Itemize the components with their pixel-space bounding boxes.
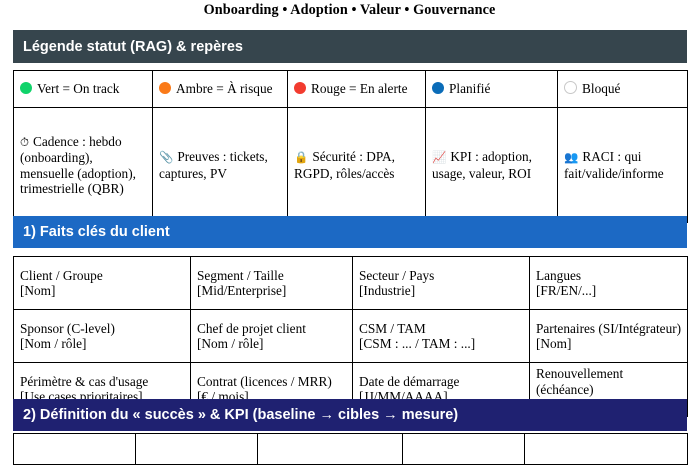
s1-cell-segment-line2: [Mid/Enterprise] bbox=[197, 283, 347, 299]
table-row: Sponsor (C-level) [Nom / rôle] Chef de p… bbox=[14, 310, 688, 363]
s1-cell-client-line2: [Nom] bbox=[20, 283, 185, 299]
hollow-circle-icon bbox=[564, 81, 577, 94]
s1-cell-csm-tam-line1: CSM / TAM bbox=[359, 321, 524, 337]
s1-cell-sector-line2: [Industrie] bbox=[359, 283, 524, 299]
green-circle-icon bbox=[20, 82, 32, 94]
s2-cell-3 bbox=[258, 434, 403, 465]
legend-notes-row: ⏱Cadence : hebdo (onboarding), mensuelle… bbox=[14, 108, 688, 223]
s1-cell-sector: Secteur / Pays [Industrie] bbox=[353, 257, 530, 310]
s1-cell-project-manager-line2: [Nom / rôle] bbox=[197, 336, 347, 352]
legend-note-cadence: ⏱Cadence : hebdo (onboarding), mensuelle… bbox=[14, 108, 153, 223]
s1-cell-renewal-line1: Renouvellement (échéance) bbox=[536, 366, 682, 397]
section1-table: Client / Groupe [Nom] Segment / Taille [… bbox=[13, 256, 688, 417]
s1-cell-client-line1: Client / Groupe bbox=[20, 268, 185, 284]
s1-cell-segment-line1: Segment / Taille bbox=[197, 268, 347, 284]
legend-status-amber-label: Ambre = À risque bbox=[176, 81, 273, 96]
section2-banner-label: 2) Définition du « succès » & KPI (basel… bbox=[23, 407, 458, 423]
legend-status-green: Vert = On track bbox=[14, 71, 153, 108]
legend-note-security-label: Sécurité : DPA, RGPD, rôles/accès bbox=[294, 149, 395, 181]
s2-cell-1 bbox=[14, 434, 136, 465]
s1-cell-sponsor-line1: Sponsor (C-level) bbox=[20, 321, 185, 337]
s1-cell-csm-tam-line2: [CSM : ... / TAM : ...] bbox=[359, 336, 524, 352]
legend-banner-label: Légende statut (RAG) & repères bbox=[23, 39, 243, 55]
s1-cell-csm-tam: CSM / TAM [CSM : ... / TAM : ...] bbox=[353, 310, 530, 363]
s1-cell-sponsor-line2: [Nom / rôle] bbox=[20, 336, 185, 352]
section2-banner: 2) Définition du « succès » & KPI (basel… bbox=[13, 399, 687, 431]
legend-status-blocked: Bloqué bbox=[558, 71, 688, 108]
legend-note-evidence: 📎Preuves : tickets, captures, PV bbox=[153, 108, 288, 223]
s2-cell-5 bbox=[525, 434, 688, 465]
s1-cell-project-manager: Chef de projet client [Nom / rôle] bbox=[191, 310, 353, 363]
legend-status-amber: Ambre = À risque bbox=[153, 71, 288, 108]
legend-status-green-label: Vert = On track bbox=[37, 81, 119, 96]
s1-cell-partners-line2: [Nom] bbox=[536, 336, 682, 352]
slide-page: Onboarding • Adoption • Valeur • Gouvern… bbox=[0, 0, 699, 445]
s1-cell-start-date-line1: Date de démarrage bbox=[359, 374, 524, 390]
s1-cell-partners-line1: Partenaires (SI/Intégrateur) bbox=[536, 321, 682, 337]
section2-table bbox=[13, 433, 688, 465]
blue-circle-icon bbox=[432, 82, 444, 94]
legend-note-cadence-label: Cadence : hebdo (onboarding), mensuelle … bbox=[20, 134, 136, 197]
legend-status-blocked-label: Bloqué bbox=[582, 81, 620, 96]
s1-cell-client: Client / Groupe [Nom] bbox=[14, 257, 191, 310]
s1-cell-languages-line1: Langues bbox=[536, 268, 682, 284]
orange-circle-icon bbox=[159, 82, 171, 94]
legend-note-security: 🔒Sécurité : DPA, RGPD, rôles/accès bbox=[288, 108, 426, 223]
chart-increasing-icon: 📈 bbox=[432, 150, 446, 164]
table-row bbox=[14, 434, 688, 465]
section1-banner: 1) Faits clés du client bbox=[13, 216, 687, 248]
legend-note-raci-label: RACI : qui fait/valide/informe bbox=[564, 149, 664, 181]
lock-icon: 🔒 bbox=[294, 150, 308, 164]
paperclip-icon: 📎 bbox=[159, 150, 173, 164]
s1-cell-project-manager-line1: Chef de projet client bbox=[197, 321, 347, 337]
busts-in-silhouette-icon: 👥 bbox=[564, 150, 578, 164]
s2-cell-2 bbox=[136, 434, 258, 465]
section1-banner-label: 1) Faits clés du client bbox=[23, 224, 170, 240]
s1-cell-languages: Langues [FR/EN/...] bbox=[530, 257, 688, 310]
s1-cell-languages-line2: [FR/EN/...] bbox=[536, 283, 682, 299]
s1-cell-sector-line1: Secteur / Pays bbox=[359, 268, 524, 284]
red-circle-icon bbox=[294, 82, 306, 94]
legend-section-banner: Légende statut (RAG) & repères bbox=[13, 30, 687, 63]
legend-status-red: Rouge = En alerte bbox=[288, 71, 426, 108]
page-title: Onboarding • Adoption • Valeur • Gouvern… bbox=[0, 0, 699, 20]
legend-status-red-label: Rouge = En alerte bbox=[311, 81, 407, 96]
s1-cell-segment: Segment / Taille [Mid/Enterprise] bbox=[191, 257, 353, 310]
stopwatch-icon: ⏱ bbox=[20, 135, 29, 149]
legend-note-evidence-label: Preuves : tickets, captures, PV bbox=[159, 149, 268, 181]
legend-status-planned-label: Planifié bbox=[449, 81, 490, 96]
table-row: Client / Groupe [Nom] Segment / Taille [… bbox=[14, 257, 688, 310]
legend-note-kpi-label: KPI : adoption, usage, valeur, ROI bbox=[432, 149, 532, 181]
legend-status-planned: Planifié bbox=[426, 71, 558, 108]
s2-cell-4 bbox=[403, 434, 525, 465]
s1-cell-contract-line1: Contrat (licences / MRR) bbox=[197, 374, 347, 390]
s1-cell-sponsor: Sponsor (C-level) [Nom / rôle] bbox=[14, 310, 191, 363]
legend-note-kpi: 📈KPI : adoption, usage, valeur, ROI bbox=[426, 108, 558, 223]
legend-table: Vert = On track Ambre = À risque Rouge =… bbox=[13, 70, 688, 223]
legend-status-row: Vert = On track Ambre = À risque Rouge =… bbox=[14, 71, 688, 108]
s1-cell-scope-line1: Périmètre & cas d'usage bbox=[20, 374, 185, 390]
s1-cell-partners: Partenaires (SI/Intégrateur) [Nom] bbox=[530, 310, 688, 363]
legend-note-raci: 👥RACI : qui fait/valide/informe bbox=[558, 108, 688, 223]
